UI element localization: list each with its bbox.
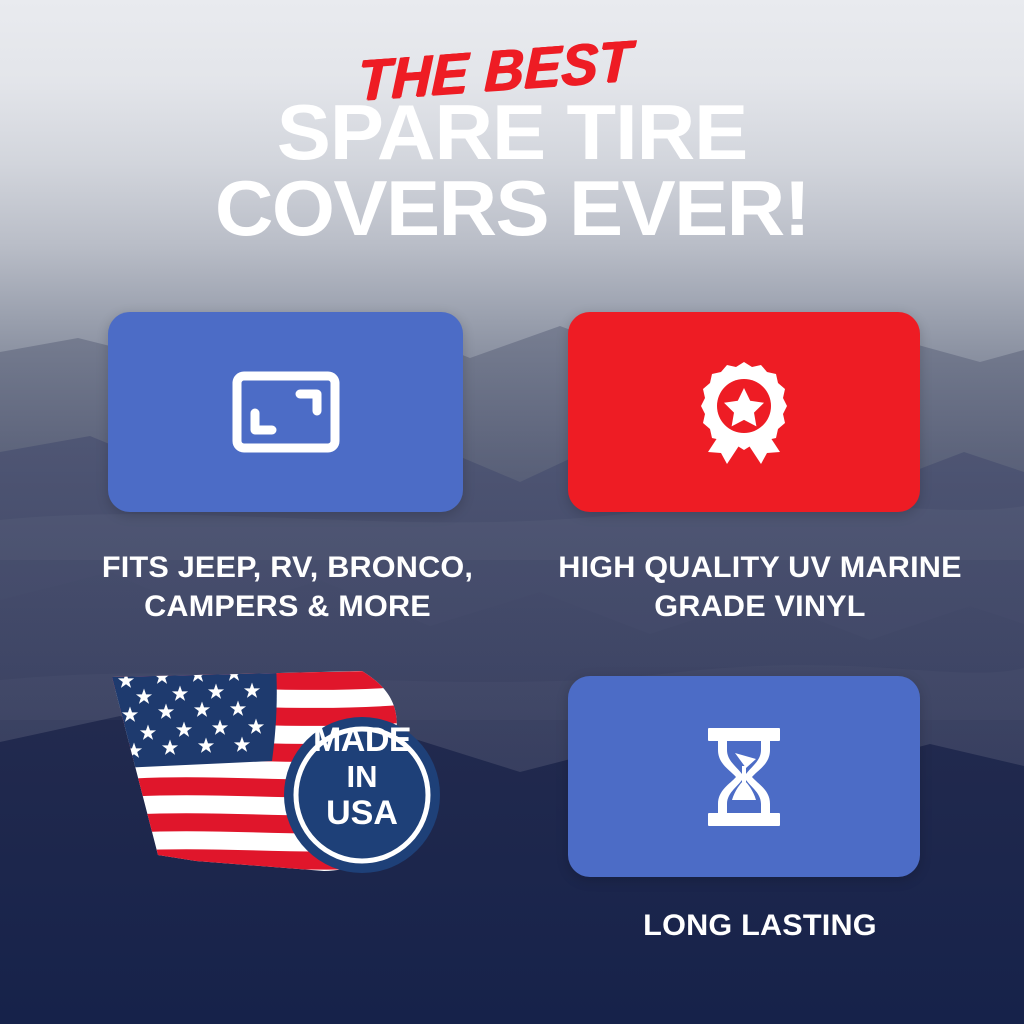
- made-in-usa-badge-text: MADE IN USA: [284, 723, 440, 830]
- feature-card-quality[interactable]: [568, 312, 920, 512]
- feature-card-long-lasting[interactable]: [568, 676, 920, 877]
- feature-caption-fits: FITS JEEP, RV, BRONCO, CAMPERS & MORE: [55, 548, 519, 626]
- promo-graphic: THE BEST SPARE TIRE COVERS EVER! FITS JE…: [0, 0, 1024, 1024]
- hourglass-icon: [706, 726, 782, 828]
- badge-line-in: IN: [284, 761, 440, 792]
- page-title: SPARE TIRE COVERS EVER!: [0, 94, 1024, 247]
- feature-card-fits[interactable]: [108, 312, 463, 512]
- badge-line-made: MADE: [284, 723, 440, 757]
- feature-caption-quality: HIGH QUALITY UV MARINE GRADE VINYL: [556, 548, 964, 626]
- feature-caption-long-lasting: LONG LASTING: [556, 906, 964, 945]
- badge-line-usa: USA: [284, 796, 440, 830]
- fit-frame-icon: [232, 371, 340, 453]
- headline-line-2: COVERS EVER!: [0, 170, 1024, 246]
- feature-made-in-usa[interactable]: MADE IN USA: [100, 665, 470, 895]
- headline-block: THE BEST SPARE TIRE COVERS EVER!: [0, 44, 1024, 247]
- headline-line-1: SPARE TIRE: [277, 88, 747, 176]
- award-ribbon-icon: [698, 360, 790, 464]
